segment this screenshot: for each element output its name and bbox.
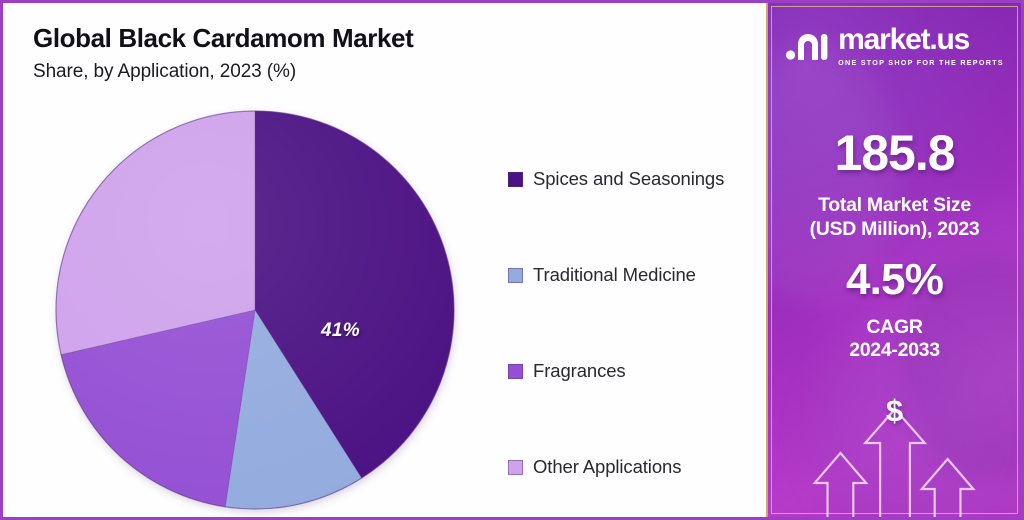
infographic-canvas: Global Black Cardamom Market Share, by A…: [0, 0, 1024, 520]
legend-item-other-applications[interactable]: Other Applications: [508, 419, 758, 515]
page-title: Global Black Cardamom Market: [33, 23, 413, 54]
logo-text-block: market.us ONE STOP SHOP FOR THE REPORTS: [838, 25, 1004, 67]
pie-slice-label-spices: 41%: [321, 320, 360, 342]
logo-wordmark: market.us: [838, 25, 1004, 55]
chart-area: Global Black Cardamom Market Share, by A…: [3, 3, 766, 517]
pie-svg: [53, 108, 457, 512]
cagr-years: 2024-2033: [768, 339, 1021, 363]
legend-swatch-icon: [508, 460, 523, 475]
legend-item-traditional-medicine[interactable]: Traditional Medicine: [508, 227, 758, 323]
market-size-caption: Total Market Size (USD Million), 2023: [768, 194, 1021, 242]
legend-label: Spices and Seasonings: [533, 168, 724, 190]
cagr-caption: CAGR: [768, 316, 1021, 340]
brand-stats: 185.8 Total Market Size (USD Million), 2…: [768, 128, 1021, 363]
chart-legend: Spices and Seasonings Traditional Medici…: [508, 131, 758, 515]
legend-item-fragrances[interactable]: Fragrances: [508, 323, 758, 419]
logo-tagline: ONE STOP SHOP FOR THE REPORTS: [838, 58, 1004, 67]
market-us-logo-icon: [785, 29, 831, 63]
cagr-value: 4.5%: [768, 258, 1021, 302]
legend-swatch-icon: [508, 364, 523, 379]
legend-swatch-icon: [508, 172, 523, 187]
pie-outline: [56, 111, 454, 509]
market-size-value: 185.8: [768, 128, 1021, 178]
growth-arrows-icon: [768, 391, 1021, 517]
market-size-caption-line2: (USD Million), 2023: [768, 218, 1021, 242]
market-size-caption-line1: Total Market Size: [768, 194, 1021, 218]
page-subtitle: Share, by Application, 2023 (%): [33, 61, 296, 83]
legend-item-spices-and-seasonings[interactable]: Spices and Seasonings: [508, 131, 758, 227]
legend-swatch-icon: [508, 268, 523, 283]
brand-panel: market.us ONE STOP SHOP FOR THE REPORTS …: [766, 3, 1021, 517]
pie-chart: 41%: [53, 108, 457, 512]
legend-label: Fragrances: [533, 360, 626, 382]
legend-label: Traditional Medicine: [533, 264, 696, 286]
legend-label: Other Applications: [533, 456, 681, 478]
brand-logo[interactable]: market.us ONE STOP SHOP FOR THE REPORTS: [768, 25, 1021, 67]
